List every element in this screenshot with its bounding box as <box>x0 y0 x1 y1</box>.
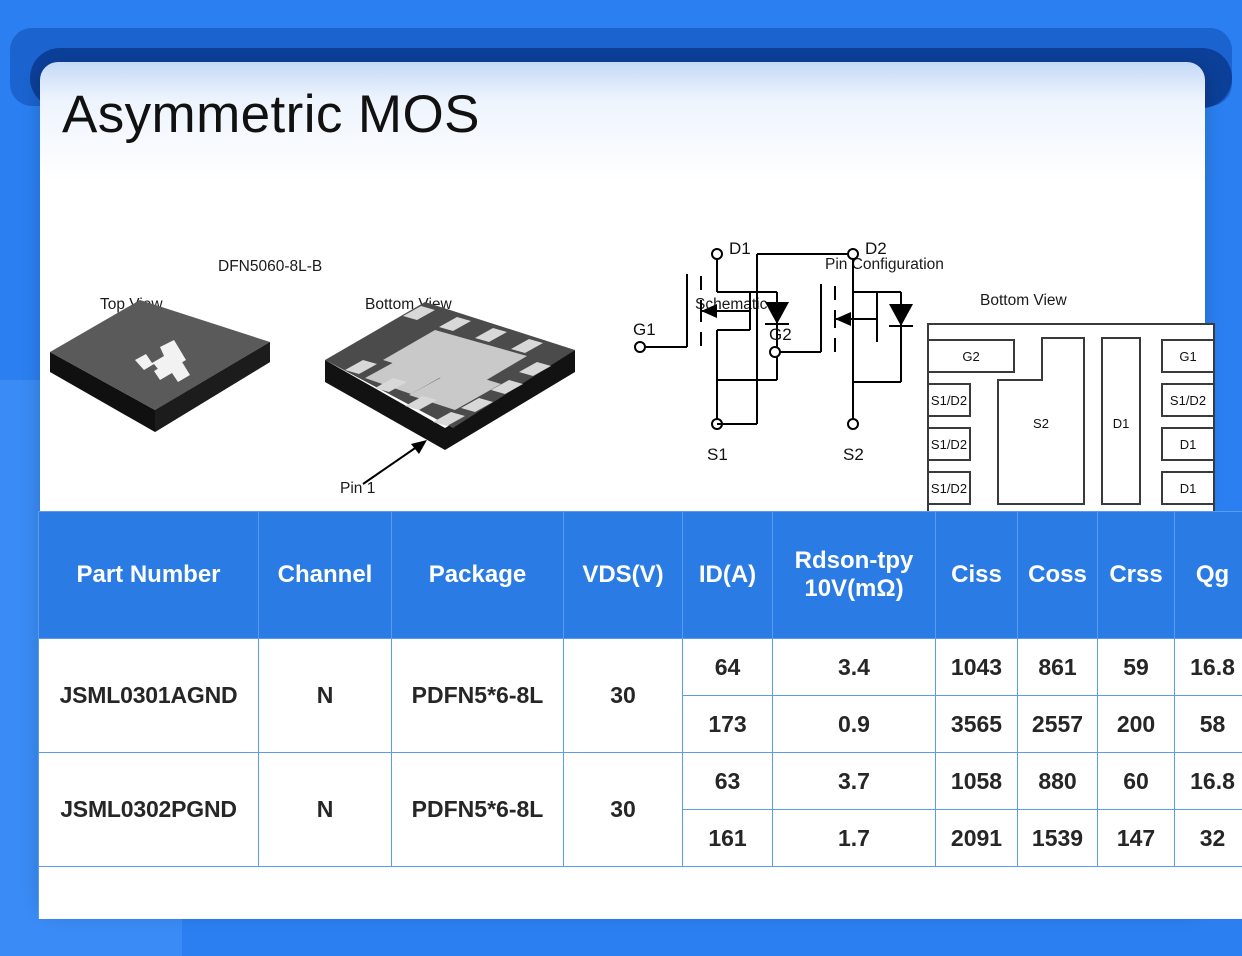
cell-crss: 200 <box>1098 696 1175 753</box>
table-header-row: Part Number Channel Package VDS(V) ID(A)… <box>39 512 1242 639</box>
cell-id: 63 <box>683 753 773 810</box>
pin1-label: Pin 1 <box>340 480 375 498</box>
schematic-pin-g1-label: G1 <box>633 320 656 339</box>
pad-label-center-d1: D1 <box>1113 416 1130 431</box>
col-header-rdson-line2: 10V(mΩ) <box>804 575 903 602</box>
pad-label-right-s1d2: S1/D2 <box>1170 393 1206 408</box>
cell-ciss: 1043 <box>936 639 1018 696</box>
cell-package: PDFN5*6-8L <box>392 639 564 753</box>
pad-label-g1: G1 <box>1179 349 1196 364</box>
table-empty-footer-row <box>39 867 1242 920</box>
col-header-coss: Coss <box>1018 512 1098 639</box>
cell-coss: 861 <box>1018 639 1098 696</box>
col-header-channel: Channel <box>259 512 392 639</box>
pad-label-right-d1-2: D1 <box>1180 481 1197 496</box>
cell-channel: N <box>259 753 392 867</box>
cell-qg: 16.8 <box>1175 639 1242 696</box>
pad-label-left-s1d2-3: S1/D2 <box>931 481 967 496</box>
col-header-id: ID(A) <box>683 512 773 639</box>
cell-ciss: 1058 <box>936 753 1018 810</box>
pad-label-right-d1-1: D1 <box>1180 437 1197 452</box>
col-header-part-number: Part Number <box>39 512 259 639</box>
schematic-pin-s1-label: S1 <box>707 445 728 464</box>
cell-vds: 30 <box>564 639 683 753</box>
cell-channel: N <box>259 639 392 753</box>
figures-region: DFN5060-8L-B Top View Bottom View Pin Co… <box>40 192 1205 522</box>
cell-rdson: 3.4 <box>773 639 936 696</box>
cell-coss: 1539 <box>1018 810 1098 867</box>
col-header-package: Package <box>392 512 564 639</box>
cell-crss: 60 <box>1098 753 1175 810</box>
cell-ciss: 2091 <box>936 810 1018 867</box>
cell-coss: 880 <box>1018 753 1098 810</box>
specifications-table: Part Number Channel Package VDS(V) ID(A)… <box>38 511 1242 919</box>
cell-ciss: 3565 <box>936 696 1018 753</box>
cell-qg: 32 <box>1175 810 1242 867</box>
cell-part-number: JSML0302PGND <box>39 753 259 867</box>
col-header-qg: Qg <box>1175 512 1242 639</box>
cell-crss: 59 <box>1098 639 1175 696</box>
cell-id: 173 <box>683 696 773 753</box>
schematic-diagram: D1 D2 G1 G2 S1 S2 <box>625 192 915 522</box>
cell-vds: 30 <box>564 753 683 867</box>
cell-rdson: 3.7 <box>773 753 936 810</box>
table-row: JSML0301AGND N PDFN5*6-8L 30 64 3.4 1043… <box>39 639 1242 696</box>
pad-label-left-s1d2-1: S1/D2 <box>931 393 967 408</box>
cell-coss: 2557 <box>1018 696 1098 753</box>
col-header-rdson: Rdson-tpy 10V(mΩ) <box>773 512 936 639</box>
col-header-rdson-line1: Rdson-tpy <box>795 547 914 574</box>
table-row: JSML0302PGND N PDFN5*6-8L 30 63 3.7 1058… <box>39 753 1242 810</box>
schematic-pin-s2-label: S2 <box>843 445 864 464</box>
page-title: Asymmetric MOS <box>62 84 480 145</box>
cell-part-number: JSML0301AGND <box>39 639 259 753</box>
pad-label-left-s1d2-2: S1/D2 <box>931 437 967 452</box>
cell-package: PDFN5*6-8L <box>392 753 564 867</box>
bottom-view-package-icon <box>305 192 625 522</box>
cell-id: 64 <box>683 639 773 696</box>
pin-configuration-diagram: G2 S1/D2 S1/D2 S1/D2 G1 S1/D2 D1 D1 S2 D… <box>920 192 1220 522</box>
cell-qg: 58 <box>1175 696 1242 753</box>
top-view-package-icon <box>40 192 340 522</box>
cell-id: 161 <box>683 810 773 867</box>
schematic-pin-g2-label: G2 <box>769 325 792 344</box>
cell-empty <box>39 867 1242 920</box>
col-header-ciss: Ciss <box>936 512 1018 639</box>
cell-crss: 147 <box>1098 810 1175 867</box>
col-header-vds: VDS(V) <box>564 512 683 639</box>
col-header-crss: Crss <box>1098 512 1175 639</box>
pad-label-s2: S2 <box>1033 416 1049 431</box>
cell-qg: 16.8 <box>1175 753 1242 810</box>
pad-label-g2: G2 <box>962 349 979 364</box>
cell-rdson: 1.7 <box>773 810 936 867</box>
schematic-pin-d1-label: D1 <box>729 239 751 258</box>
schematic-pin-d2-label: D2 <box>865 239 887 258</box>
cell-rdson: 0.9 <box>773 696 936 753</box>
